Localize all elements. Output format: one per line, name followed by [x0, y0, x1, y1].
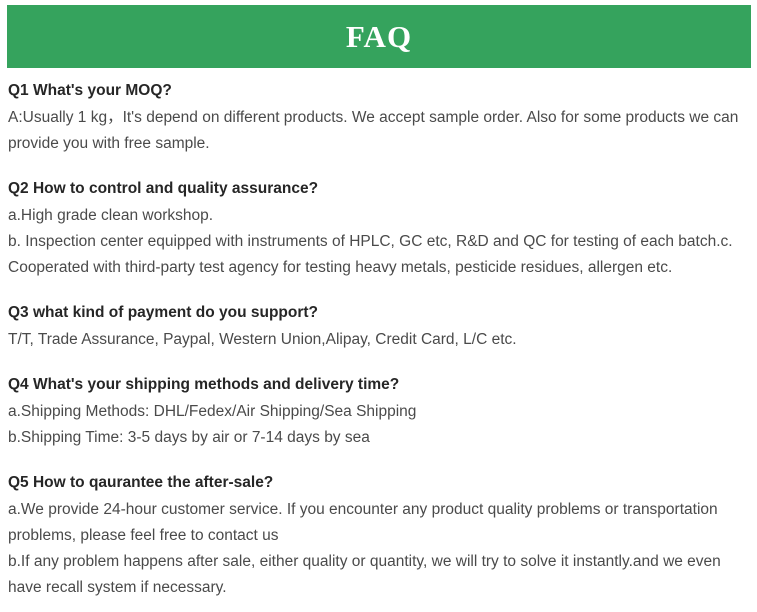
faq-question: Q4 What's your shipping methods and deli… — [8, 372, 749, 398]
faq-banner-title: FAQ — [346, 21, 412, 52]
faq-answer-line: b.If any problem happens after sale, eit… — [8, 549, 749, 601]
faq-question: Q1 What's your MOQ? — [8, 78, 749, 104]
faq-answer-line: b. Inspection center equipped with instr… — [8, 229, 749, 281]
faq-question: Q2 How to control and quality assurance? — [8, 176, 749, 202]
faq-page: FAQ Q1 What's your MOQ? A:Usually 1 kg，I… — [0, 0, 757, 612]
faq-item: Q4 What's your shipping methods and deli… — [8, 372, 749, 451]
faq-item: Q5 How to qaurantee the after-sale? a.We… — [8, 470, 749, 601]
faq-item: Q3 what kind of payment do you support? … — [8, 300, 749, 353]
faq-question: Q3 what kind of payment do you support? — [8, 300, 749, 326]
faq-answer-line: a.We provide 24-hour customer service. I… — [8, 497, 749, 549]
faq-question: Q5 How to qaurantee the after-sale? — [8, 470, 749, 496]
faq-answer-line: a.Shipping Methods: DHL/Fedex/Air Shippi… — [8, 399, 749, 425]
faq-banner: FAQ — [7, 5, 751, 68]
faq-answer-line: A:Usually 1 kg，It's depend on different … — [8, 105, 749, 157]
faq-list: Q1 What's your MOQ? A:Usually 1 kg，It's … — [8, 78, 749, 601]
faq-answer-line: T/T, Trade Assurance, Paypal, Western Un… — [8, 327, 749, 353]
faq-item: Q2 How to control and quality assurance?… — [8, 176, 749, 281]
faq-answer-line: b.Shipping Time: 3-5 days by air or 7-14… — [8, 425, 749, 451]
faq-item: Q1 What's your MOQ? A:Usually 1 kg，It's … — [8, 78, 749, 157]
faq-answer-line: a.High grade clean workshop. — [8, 203, 749, 229]
